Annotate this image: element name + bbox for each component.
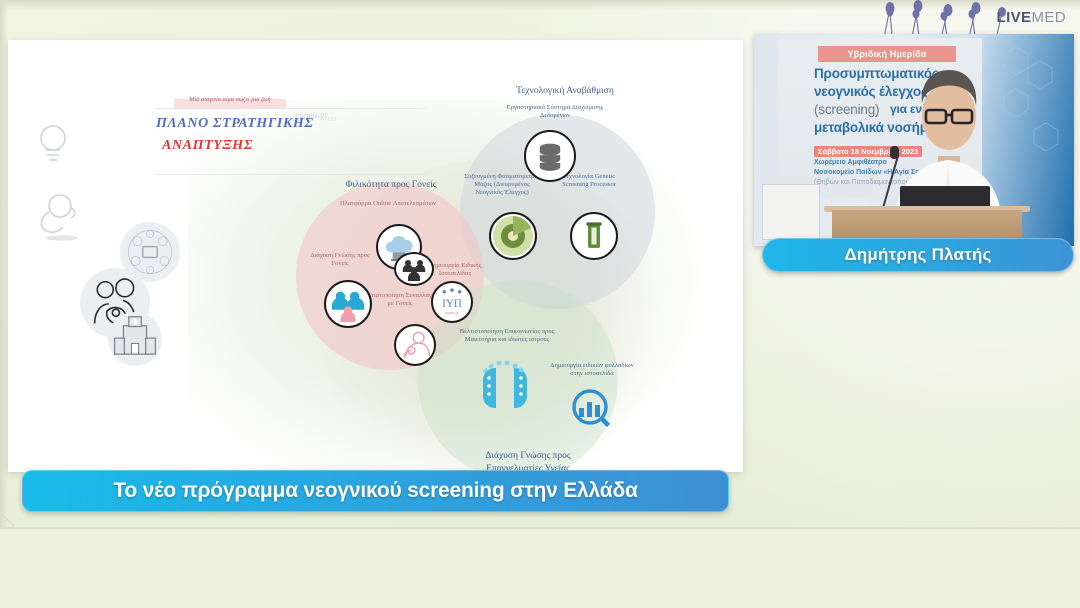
node-database-icon[interactable] xyxy=(524,130,576,182)
node-label-communication: Βελτιστοποίηση Επικοινωνίας προς Μαιευτή… xyxy=(448,328,566,344)
footer: Διοργανωτής: EE ME MN Ελληνική Εταιρεία … xyxy=(0,528,1080,608)
livemed-med-text: MED xyxy=(1031,9,1066,26)
presentation-title-text: Το νέο πρόγραμμα νεογνικού screening στη… xyxy=(113,479,637,503)
venn-title-parents: Φιλικότητα προς Γονείς xyxy=(316,180,466,192)
svg-text:ΙΥΠ: ΙΥΠ xyxy=(442,298,462,310)
side-monitor xyxy=(762,184,820,240)
lightbulb-icon xyxy=(36,122,70,166)
slide-tagline: Μία σταγόνα αίμα σώζει μια ζωή xyxy=(174,99,286,109)
poster-line3-thin: (screening) xyxy=(814,102,879,117)
svg-text:eppen.gr: eppen.gr xyxy=(445,311,459,315)
node-brains-icon[interactable] xyxy=(477,360,533,416)
node-label-spectrometry: Συζευγμένη Φασματομετρία Μάζας (Διευρυμέ… xyxy=(463,173,541,198)
node-mother-child-icon[interactable] xyxy=(394,324,436,366)
node-test-tube-icon[interactable] xyxy=(570,212,618,260)
slide-content: Μία σταγόνα αίμα σώζει μια ζωή eppen.grΕ… xyxy=(8,40,743,472)
laptop-icon xyxy=(900,186,990,208)
slide-panel[interactable]: Μία σταγόνα αίμα σώζει μια ζωή eppen.grΕ… xyxy=(8,40,743,472)
node-knowledge-people-icon[interactable] xyxy=(324,280,372,328)
node-spectrometer-icon[interactable] xyxy=(489,212,537,260)
hospital-icon xyxy=(108,312,162,366)
microphone-head-icon xyxy=(890,146,899,159)
slide-heading-line1: ΠΛΑΝΟ ΣΤΡΑΤΗΓΙΚΗΣ xyxy=(156,116,314,132)
node-chart-search-icon[interactable] xyxy=(571,388,615,432)
video-player[interactable]: Υβριδική Ημερίδα Προσυμπτωματικός νεογνι… xyxy=(754,34,1074,246)
presentation-title-banner: Το νέο πρόγραμμα νεογνικού screening στη… xyxy=(22,470,729,512)
baby-crawling-icon xyxy=(32,192,78,242)
venn-title-professionals: Διάχυση Γνώσης προς Επαγγελματίες Υγείας xyxy=(458,450,598,472)
node-label-online-platform: Πλατφόρμα Online Αποτελεσμάτων xyxy=(338,200,438,208)
slide-heading-line2: ΑΝΑΠΤΥΞΗΣ xyxy=(162,138,253,154)
slide-tagline-text: Μία σταγόνα αίμα σώζει μια ζωή xyxy=(174,97,286,103)
slide-website-sub: ΕΠ xyxy=(328,117,336,123)
venn-title-technology: Τεχνολογική Αναβάθμιση xyxy=(490,86,640,98)
livemed-live-text: LIVE xyxy=(997,9,1032,26)
node-label-knowledge-parents: Διάχυση Γνώσης προς Γονείς xyxy=(304,252,376,268)
left-shadow xyxy=(0,0,8,608)
speaker-name-text: Δημήτρης Πλατής xyxy=(844,245,991,265)
node-people-group-icon[interactable] xyxy=(394,252,434,286)
header-divider-bottom xyxy=(156,174,426,175)
node-label-transactions: Βελτιστοποίηση Συναλλαγών με Γονείς xyxy=(360,292,440,308)
node-label-leaflets: Δημιουργία ειδικών φυλλαδίων στην ιστοσε… xyxy=(544,362,640,378)
poster-venue1: Χωρέμειο Αμφιθέατρο xyxy=(814,159,887,166)
livemed-logo: LIVEMED xyxy=(997,9,1067,26)
speaker-name-banner: Δημήτρης Πλατής xyxy=(762,238,1074,272)
node-label-database: Εργαστηριακό Σύστημα Διαχείρισης Δεδομέν… xyxy=(495,104,615,120)
node-website-icon[interactable]: ΙΥΠ eppen.gr xyxy=(431,281,473,323)
